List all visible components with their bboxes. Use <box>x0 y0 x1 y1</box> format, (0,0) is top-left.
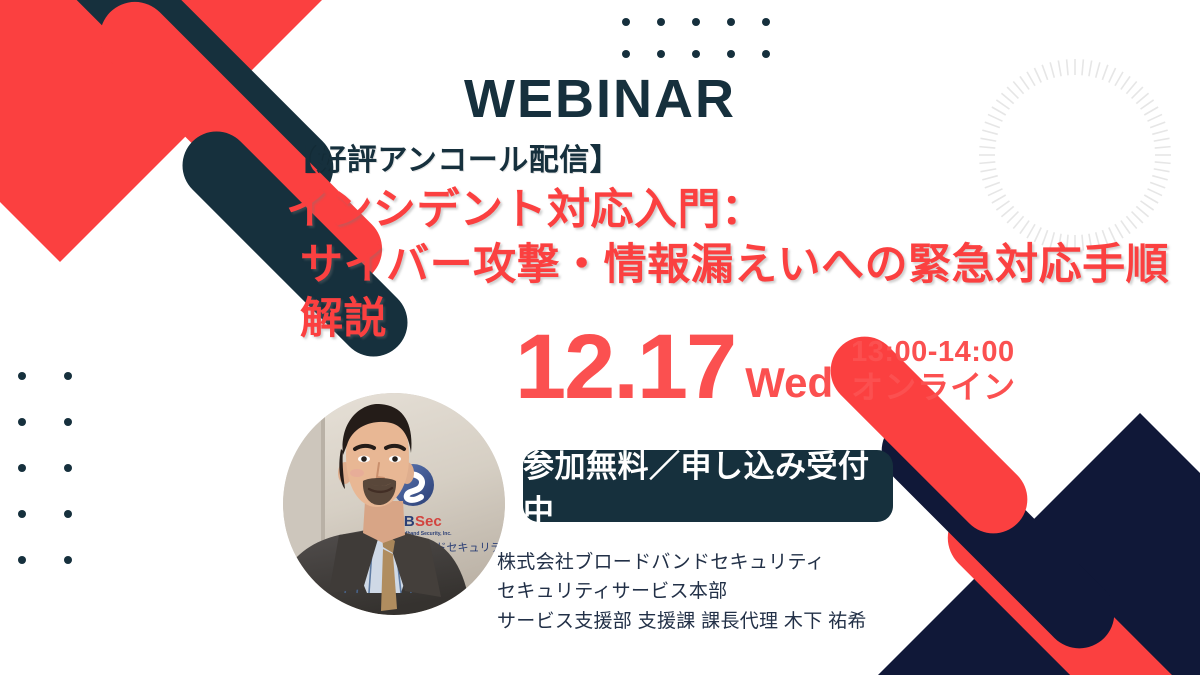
speaker-avatar: BB Sec Broadband Security, Inc. ブロードバンドセ… <box>283 393 505 615</box>
speaker-company: 株式会社ブロードバンドセキュリティ <box>497 548 867 577</box>
decor-dot <box>622 50 630 58</box>
decor-dot <box>64 510 72 518</box>
decor-dot <box>18 510 26 518</box>
event-weekday: Wed <box>745 362 833 408</box>
registration-badge[interactable]: 参加無料／申し込み受付中 <box>523 450 893 522</box>
webinar-poster: WEBINAR 【好評アンコール配信】 インシデント対応入門： サイバー攻撃・情… <box>0 0 1200 675</box>
decor-dot <box>762 18 770 26</box>
decor-dot <box>692 18 700 26</box>
decor-dot <box>64 556 72 564</box>
decor-dot <box>18 464 26 472</box>
speaker-title-name: サービス支援部 支援課 課長代理 木下 祐希 <box>497 607 867 636</box>
speaker-division: セキュリティサービス本部 <box>497 577 867 606</box>
page-title: インシデント対応入門： <box>286 184 1176 238</box>
speaker-credentials: 株式会社ブロードバンドセキュリティ セキュリティサービス本部 サービス支援部 支… <box>497 548 867 636</box>
decor-dot <box>18 418 26 426</box>
event-format: オンライン <box>851 369 1016 406</box>
decor-dot <box>64 418 72 426</box>
decor-dot <box>657 18 665 26</box>
encore-label: 【好評アンコール配信】 <box>286 142 1176 180</box>
event-date: 12.17 <box>515 327 735 408</box>
decor-dot <box>692 50 700 58</box>
decor-dot <box>18 372 26 380</box>
event-time: 13:00-14:00 <box>851 336 1016 369</box>
decor-dot <box>727 18 735 26</box>
decor-dot <box>64 372 72 380</box>
decor-dot <box>762 50 770 58</box>
registration-badge-label: 参加無料／申し込み受付中 <box>523 441 893 531</box>
decor-dot <box>18 556 26 564</box>
event-time-format: 13:00-14:00 オンライン <box>851 336 1016 408</box>
event-date-row: 12.17 Wed 13:00-14:00 オンライン <box>515 327 1016 408</box>
decor-dot <box>64 464 72 472</box>
svg-text:Sec: Sec <box>415 513 442 530</box>
decor-dot <box>622 18 630 26</box>
webinar-label: WEBINAR <box>0 72 1200 126</box>
decor-dot <box>657 50 665 58</box>
decor-dot <box>727 50 735 58</box>
